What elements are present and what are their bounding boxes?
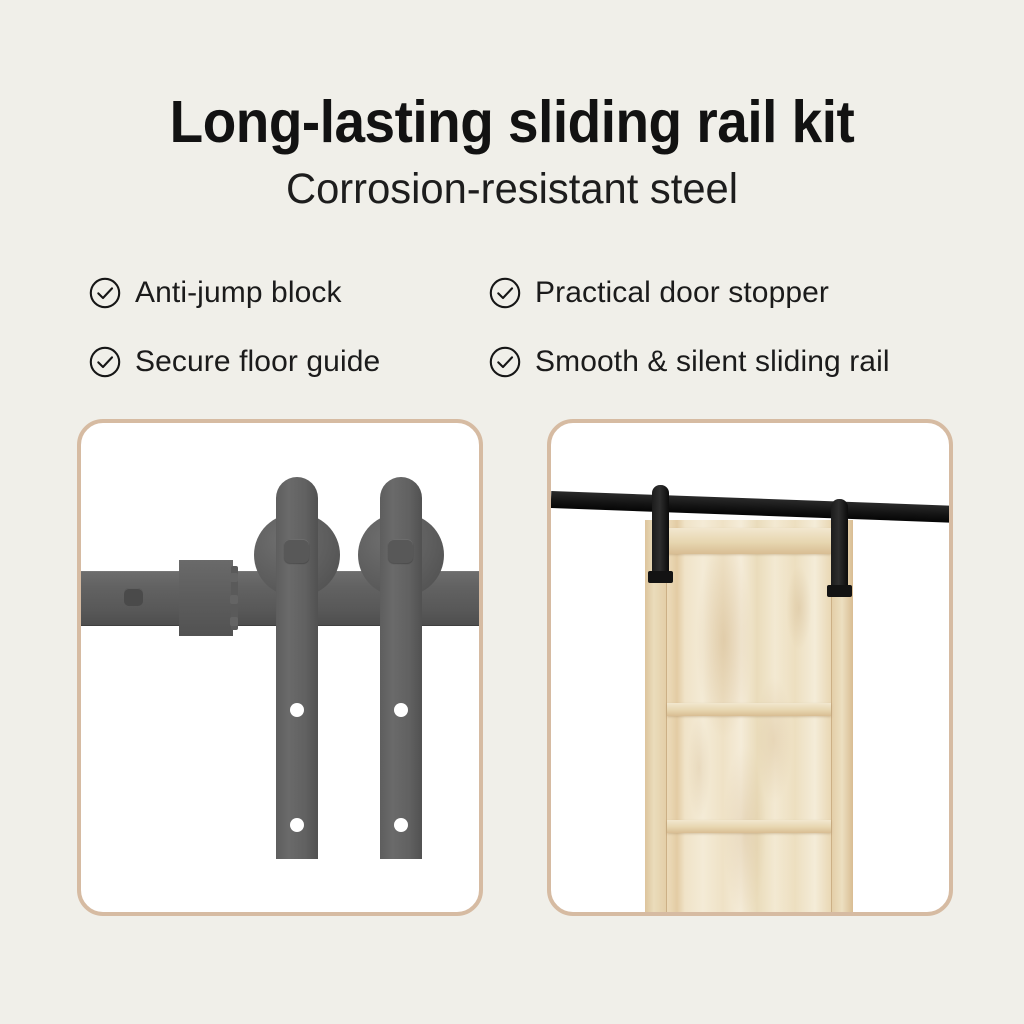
installed-door-caption: Pine barn door hung on black sliding rai… xyxy=(551,423,552,424)
door-rail-lower xyxy=(667,820,831,833)
feature-label: Smooth & silent sliding rail xyxy=(535,345,890,379)
track-splice-bracket xyxy=(179,560,233,636)
track-splice-nub xyxy=(230,595,238,604)
axle-bolt xyxy=(284,539,309,563)
installed-door-illustration: Pine barn door hung on black sliding rai… xyxy=(551,423,949,912)
door-rail-middle xyxy=(667,703,831,716)
strap-mounting-hole xyxy=(290,703,304,717)
check-circle-icon xyxy=(88,276,122,310)
strap-mounting-hole xyxy=(394,818,408,832)
strap-mounting-hole xyxy=(394,703,408,717)
axle-bolt xyxy=(388,539,413,563)
hanger-strap xyxy=(652,485,669,581)
product-image-hardware-closeup: Grey steel roller hangers mounted on sli… xyxy=(77,419,483,916)
hanger-strap xyxy=(380,477,422,859)
wood-grain xyxy=(645,520,853,912)
check-circle-icon xyxy=(488,276,522,310)
track-splice-nub xyxy=(230,573,238,582)
product-image-installed-door: Pine barn door hung on black sliding rai… xyxy=(547,419,953,916)
door-rail-top xyxy=(667,528,831,554)
feature-item-practical-door-stopper: Practical door stopper xyxy=(488,276,968,310)
black-sliding-rail xyxy=(551,491,949,523)
hardware-illustration: Grey steel roller hangers mounted on sli… xyxy=(81,423,479,912)
hanger-strap xyxy=(831,499,848,595)
hardware-caption: Grey steel roller hangers mounted on sli… xyxy=(81,423,82,424)
page-subtitle: Corrosion-resistant steel xyxy=(15,154,1008,213)
feature-item-anti-jump-block: Anti-jump block xyxy=(88,276,488,310)
check-circle-icon xyxy=(488,345,522,379)
hanger-strap xyxy=(276,477,318,859)
track-mounting-bolt xyxy=(124,588,143,606)
page-title: Long-lasting sliding rail kit xyxy=(36,0,988,154)
feature-label: Practical door stopper xyxy=(535,276,829,310)
feature-label: Secure floor guide xyxy=(135,345,380,379)
barn-door-panel xyxy=(645,520,853,912)
feature-list: Anti-jump block Practical door stopper S… xyxy=(88,258,968,396)
hanger-foot-plate xyxy=(648,571,673,583)
feature-item-smooth-silent-sliding-rail: Smooth & silent sliding rail xyxy=(488,345,968,379)
feature-label: Anti-jump block xyxy=(135,276,342,310)
header: Long-lasting sliding rail kit Corrosion-… xyxy=(0,0,1024,213)
track-splice-nub xyxy=(230,617,238,626)
feature-item-secure-floor-guide: Secure floor guide xyxy=(88,345,488,379)
check-circle-icon xyxy=(88,345,122,379)
strap-mounting-hole xyxy=(290,818,304,832)
hanger-foot-plate xyxy=(827,585,852,597)
